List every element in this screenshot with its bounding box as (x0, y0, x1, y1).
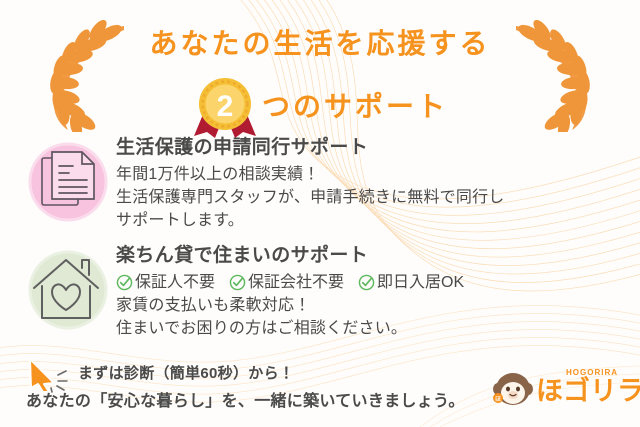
section-2-line-1: 家賃の支払いも柔軟対応！ (116, 294, 626, 317)
section-1-line-3: サポートします。 (116, 209, 626, 232)
section-1-title: 生活保護の申請同行サポート (116, 136, 626, 160)
check-label-3: 即日入居OK (377, 271, 464, 294)
header: あなたの生活を応援する 2 つのサポート (0, 6, 640, 126)
footer-line-1: まずは診断（簡単60秒）から！ (78, 366, 294, 381)
medal-number: 2 (217, 90, 234, 123)
check-circle-icon (358, 274, 375, 291)
section-2-body: 楽ちん貸で住まいのサポート 保証人不要 保証会社不要 (110, 244, 626, 340)
section-1-body: 生活保護の申請同行サポート 年間1万件以上の相談実績！ 生活保護専門スタッフが、… (110, 136, 626, 232)
hogorira-logo[interactable]: ほ HOGORIRA ほゴリラ (492, 366, 632, 410)
section-1-line-2: 生活保護専門スタッフが、申請手続きに無料で同行し (116, 186, 626, 209)
logo-text-group: HOGORIRA ほゴリラ (536, 371, 640, 405)
section-2-line-2: 住まいでお困りの方はご相談ください。 (116, 317, 626, 340)
headline-line-2-row: 2 つのサポート (0, 76, 640, 138)
gorilla-mascot-icon: ほ (492, 367, 534, 409)
check-label-2: 保証会社不要 (248, 271, 344, 294)
footer: まずは診断（簡単60秒）から！ あなたの「安心な暮らし」を、一緒に築いていきまし… (0, 352, 640, 422)
check-item-3: 即日入居OK (358, 271, 464, 294)
check-label-1: 保証人不要 (135, 271, 215, 294)
house-heart-icon (26, 244, 110, 336)
footer-line-2: あなたの「安心な暮らし」を、一緒に築いていきましょう。 (26, 394, 465, 410)
svg-text:ほ: ほ (495, 396, 501, 403)
headline-line-2: つのサポート (262, 93, 448, 121)
section-2-title: 楽ちん貸で住まいのサポート (116, 244, 626, 268)
support-section-rakuchin-gashi: 楽ちん貸で住まいのサポート 保証人不要 保証会社不要 (26, 244, 626, 340)
banner-root: あなたの生活を応援する 2 つのサポート (0, 0, 640, 427)
headline-line-1: あなたの生活を応援する (0, 30, 640, 58)
check-circle-icon (116, 274, 133, 291)
documents-icon (26, 136, 110, 228)
section-1-line-1: 年間1万件以上の相談実績！ (116, 163, 626, 186)
medal-badge-icon: 2 (192, 76, 258, 138)
check-item-2: 保証会社不要 (229, 271, 344, 294)
check-item-1: 保証人不要 (116, 271, 215, 294)
logo-sub-text: HOGORIRA (566, 369, 618, 377)
logo-main-text: ほゴリラ (536, 378, 640, 405)
section-2-check-row: 保証人不要 保証会社不要 即日入居OK (116, 271, 626, 294)
check-circle-icon (229, 274, 246, 291)
support-section-seikatsu-hogo: 生活保護の申請同行サポート 年間1万件以上の相談実績！ 生活保護専門スタッフが、… (26, 136, 626, 232)
click-cursor-icon (24, 355, 76, 393)
